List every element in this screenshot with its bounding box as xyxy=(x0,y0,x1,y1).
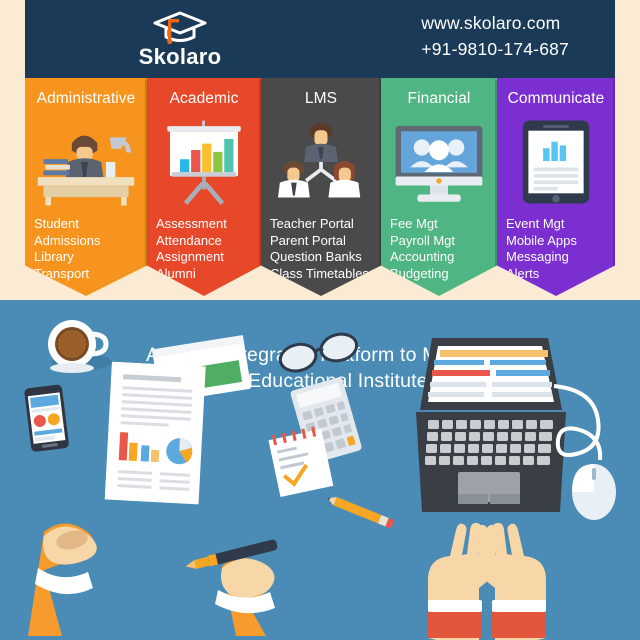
banner-title: Administrative xyxy=(25,90,147,108)
banner-administrative[interactable]: Administrative xyxy=(25,78,147,296)
banner-feature-list: Fee Mgt Payroll Mgt Accounting Budgeting xyxy=(390,216,493,282)
feature-item: Question Banks xyxy=(270,249,377,266)
feature-banners: Administrative xyxy=(25,78,615,318)
banner-feature-list: Student Admissions Library Transport xyxy=(34,216,143,282)
coffee-cup-icon xyxy=(42,318,112,383)
banner-academic[interactable]: Academic Assessment xyxy=(147,78,261,296)
feature-item: Alumni xyxy=(156,266,257,283)
banner-shadow xyxy=(613,78,629,296)
presentation-bar-chart-icon xyxy=(147,114,261,210)
eyeglasses-icon xyxy=(274,322,368,386)
banner-feature-list: Event Mgt Mobile Apps Messaging Alerts xyxy=(506,216,611,282)
contact-info: www.skolaro.com +91-9810-174-687 xyxy=(421,10,569,62)
phone-text: +91-9810-174-687 xyxy=(421,36,569,62)
org-chart-people-icon xyxy=(261,114,381,210)
feature-item: Student xyxy=(34,216,143,233)
hand-holding-paper-icon xyxy=(10,440,140,640)
feature-item: Accounting xyxy=(390,249,493,266)
feature-item: Admissions xyxy=(34,233,143,250)
banner-feature-list: Assessment Attendance Assignment Alumni xyxy=(156,216,257,282)
header-bar: Skolaro www.skolaro.com +91-9810-174-687 xyxy=(25,0,615,78)
computer-mouse-icon xyxy=(552,382,640,527)
desk-officer-icon xyxy=(25,114,147,210)
tablet-report-icon xyxy=(497,114,615,210)
banner-title: Communicate xyxy=(497,90,615,108)
feature-item: Assignment xyxy=(156,249,257,266)
banner-title: Financial xyxy=(381,90,497,108)
feature-item: Assessment xyxy=(156,216,257,233)
feature-item: Mobile Apps xyxy=(506,233,611,250)
feature-item: Alerts xyxy=(506,266,611,283)
banner-financial[interactable]: Financial Fee Mgt xyxy=(381,78,497,296)
feature-item: Budgeting xyxy=(390,266,493,283)
feature-item: Payroll Mgt xyxy=(390,233,493,250)
banner-lms[interactable]: LMS xyxy=(261,78,381,296)
monitor-users-icon xyxy=(381,114,497,210)
feature-item: Library xyxy=(34,249,143,266)
feature-item: Transport xyxy=(34,266,143,283)
banner-title: Academic xyxy=(147,90,261,108)
brand-logo: Skolaro xyxy=(100,6,260,72)
feature-item: Class Timetables xyxy=(270,266,377,283)
graduation-cap-icon xyxy=(152,11,208,45)
infographic-poster: Skolaro www.skolaro.com +91-9810-174-687… xyxy=(0,0,640,640)
desk-scene: A Single Integrated Platform to Manage Y… xyxy=(0,300,640,640)
brand-name: Skolaro xyxy=(139,46,222,68)
feature-item: Teacher Portal xyxy=(270,216,377,233)
feature-item: Messaging xyxy=(506,249,611,266)
banner-title: LMS xyxy=(261,90,381,108)
feature-item: Attendance xyxy=(156,233,257,250)
banner-communicate[interactable]: Communicate Event Mgt Mo xyxy=(497,78,615,296)
website-text: www.skolaro.com xyxy=(421,10,569,36)
feature-item: Event Mgt xyxy=(506,216,611,233)
hands-typing-icon xyxy=(398,450,578,640)
feature-item: Parent Portal xyxy=(270,233,377,250)
banner-feature-list: Teacher Portal Parent Portal Question Ba… xyxy=(270,216,377,282)
feature-item: Fee Mgt xyxy=(390,216,493,233)
